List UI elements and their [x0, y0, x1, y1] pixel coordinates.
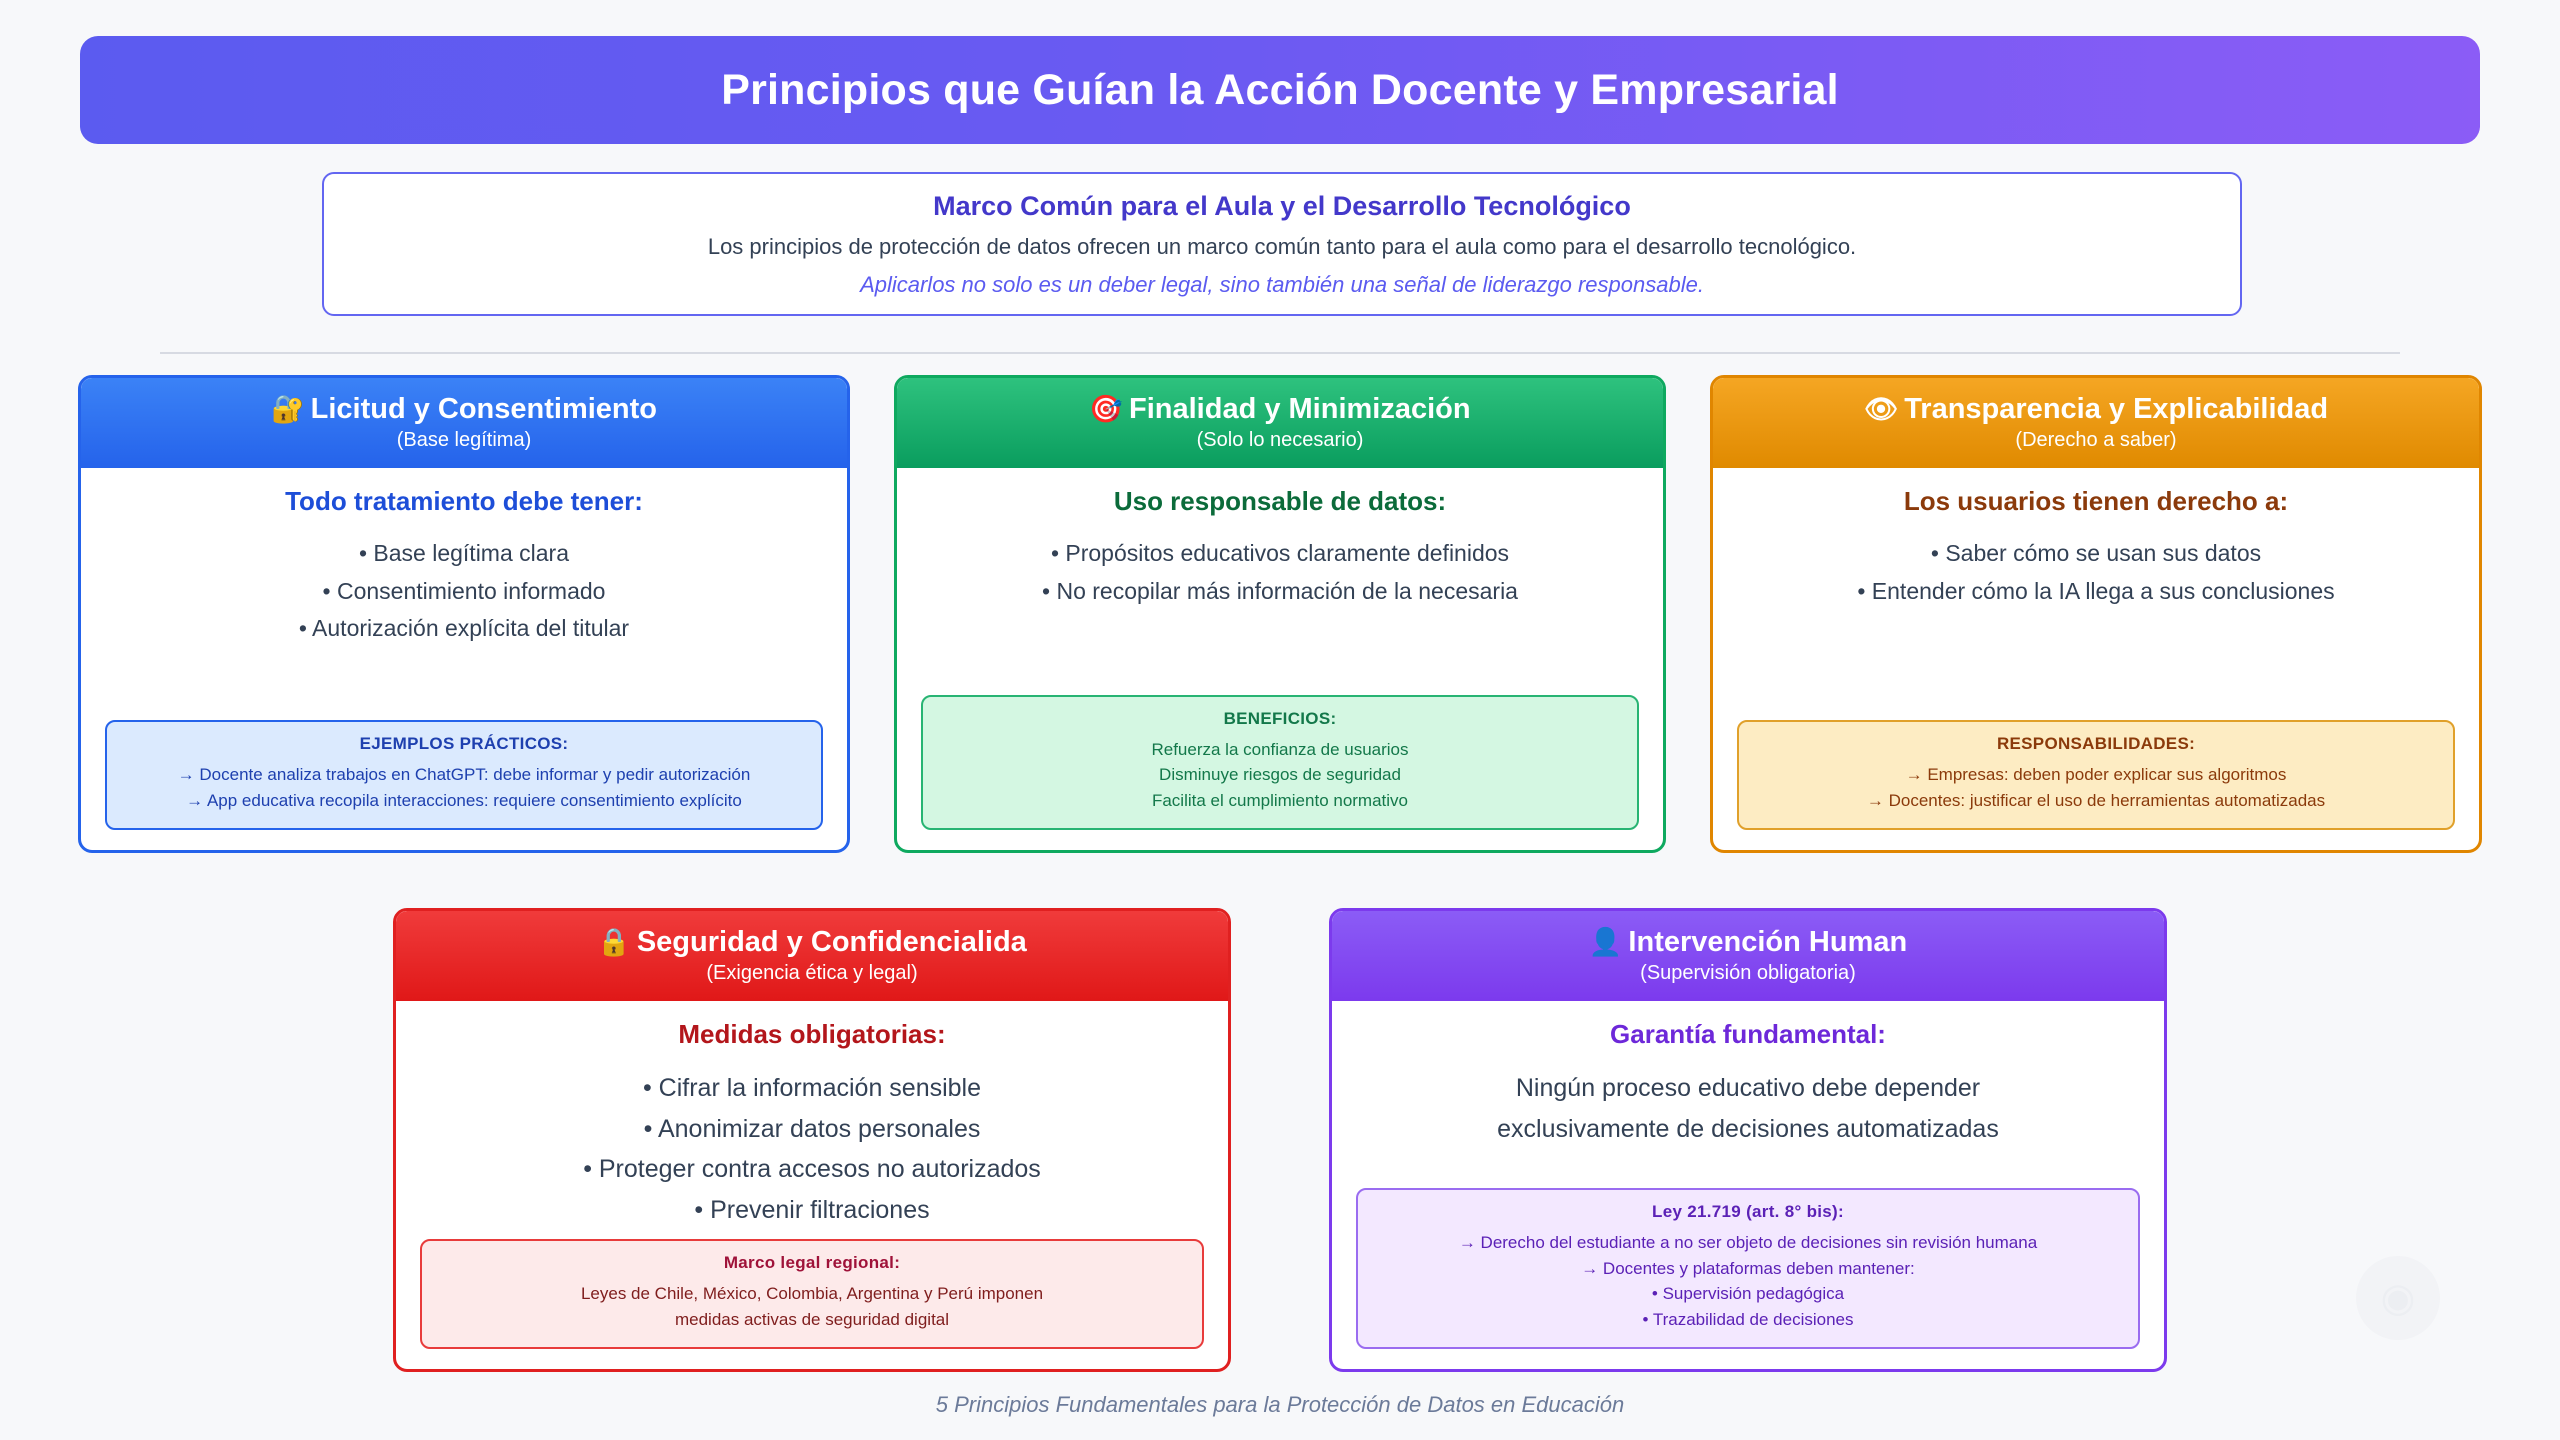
list-item: • No recopilar más información de la nec…	[921, 573, 1639, 610]
card-subtitle: (Base legítima)	[91, 429, 837, 452]
card-subtitle: (Solo lo necesario)	[907, 429, 1653, 452]
card-lead: Todo tratamiento debe tener:	[285, 486, 643, 517]
page-title: Principios que Guían la Acción Docente y…	[721, 66, 1839, 115]
info-box-title: RESPONSABILIDADES:	[1755, 734, 2437, 754]
target-icon: 🎯	[1089, 394, 1123, 424]
card-body-seguridad: Medidas obligatorias: • Cifrar la inform…	[396, 1001, 1228, 1369]
card-lead: Los usuarios tienen derecho a:	[1904, 486, 2288, 517]
lock-icon: 🔒	[597, 927, 631, 957]
card-info-box: EJEMPLOS PRÁCTICOS: → Docente analiza tr…	[105, 720, 823, 830]
infographic-page: Principios que Guían la Acción Docente y…	[0, 0, 2560, 1440]
locked-with-key-icon: 🔐	[271, 394, 305, 424]
main-banner: Principios que Guían la Acción Docente y…	[80, 36, 2480, 144]
info-box-title: BENEFICIOS:	[939, 709, 1621, 729]
card-title-row: 🔒Seguridad y Confidencialida	[406, 925, 1218, 960]
principle-card-transparencia: 👁Transparencia y Explicabilidad (Derecho…	[1710, 375, 2482, 853]
card-lead: Uso responsable de datos:	[1114, 486, 1446, 517]
list-item: • Cifrar la información sensible	[420, 1068, 1204, 1109]
principle-card-intervencion: 👤Intervención Human (Supervisión obligat…	[1329, 908, 2167, 1372]
principle-card-licitud: 🔐Licitud y Consentimiento (Base legítima…	[78, 375, 850, 853]
card-title: Seguridad y Confidencialida	[637, 926, 1027, 958]
info-box-line: → Docentes: justificar el uso de herrami…	[1755, 788, 2437, 814]
info-box-line: Leyes de Chile, México, Colombia, Argent…	[438, 1281, 1186, 1307]
info-box-line: → Empresas: deben poder explicar sus alg…	[1755, 762, 2437, 788]
card-title: Intervención Human	[1628, 926, 1907, 958]
footer-caption: 5 Principios Fundamentales para la Prote…	[0, 1392, 2560, 1418]
card-header-finalidad: 🎯Finalidad y Minimización (Solo lo neces…	[897, 378, 1663, 468]
cards-row-top: 🔐Licitud y Consentimiento (Base legítima…	[78, 375, 2482, 853]
info-box-title: EJEMPLOS PRÁCTICOS:	[123, 734, 805, 754]
card-subtitle: (Derecho a saber)	[1723, 429, 2469, 452]
card-lead: Garantía fundamental:	[1610, 1019, 1886, 1050]
info-box-line: • Supervisión pedagógica	[1374, 1281, 2122, 1307]
intro-emphasis: Aplicarlos no solo es un deber legal, si…	[860, 272, 1704, 298]
list-item: • Proteger contra accesos no autorizados	[420, 1149, 1204, 1190]
list-item: exclusivamente de decisiones automatizad…	[1356, 1109, 2140, 1150]
card-bullets: • Propósitos educativos claramente defin…	[921, 535, 1639, 610]
principle-card-seguridad: 🔒Seguridad y Confidencialida (Exigencia …	[393, 908, 1231, 1372]
list-item: • Saber cómo se usan sus datos	[1737, 535, 2455, 572]
info-box-line: → Derecho del estudiante a no ser objeto…	[1374, 1230, 2122, 1256]
person-icon: 👤	[1589, 927, 1623, 957]
watermark-icon: ◉	[2356, 1256, 2440, 1340]
list-item: • Anonimizar datos personales	[420, 1109, 1204, 1150]
section-divider	[160, 352, 2400, 354]
card-bullets: • Cifrar la información sensible • Anoni…	[420, 1068, 1204, 1230]
info-box-line: Facilita el cumplimiento normativo	[939, 788, 1621, 814]
card-body-licitud: Todo tratamiento debe tener: • Base legí…	[81, 468, 847, 850]
intro-description: Los principios de protección de datos of…	[708, 234, 1856, 260]
list-item: • Entender cómo la IA llega a sus conclu…	[1737, 573, 2455, 610]
card-info-box: Marco legal regional: Leyes de Chile, Mé…	[420, 1239, 1204, 1349]
card-header-licitud: 🔐Licitud y Consentimiento (Base legítima…	[81, 378, 847, 468]
info-box-line: Refuerza la confianza de usuarios	[939, 737, 1621, 763]
eye-icon: 👁	[1864, 394, 1898, 424]
info-box-title: Marco legal regional:	[438, 1253, 1186, 1273]
card-subtitle: (Supervisión obligatoria)	[1342, 962, 2154, 985]
info-box-line: • Trazabilidad de decisiones	[1374, 1307, 2122, 1333]
list-item: • Autorización explícita del titular	[105, 610, 823, 647]
card-body-intervencion: Garantía fundamental: Ningún proceso edu…	[1332, 1001, 2164, 1369]
card-header-intervencion: 👤Intervención Human (Supervisión obligat…	[1332, 911, 2164, 1001]
info-box-line: medidas activas de seguridad digital	[438, 1307, 1186, 1333]
info-box-line: Disminuye riesgos de seguridad	[939, 762, 1621, 788]
card-info-box: BENEFICIOS: Refuerza la confianza de usu…	[921, 695, 1639, 830]
info-box-line: → Docentes y plataformas deben mantener:	[1374, 1256, 2122, 1282]
card-body-transparencia: Los usuarios tienen derecho a: • Saber c…	[1713, 468, 2479, 850]
list-item: • Base legítima clara	[105, 535, 823, 572]
card-bullets: • Saber cómo se usan sus datos • Entende…	[1737, 535, 2455, 610]
list-item: Ningún proceso educativo debe depender	[1356, 1068, 2140, 1109]
card-title: Transparencia y Explicabilidad	[1904, 393, 2328, 425]
card-bullets: Ningún proceso educativo debe depender e…	[1356, 1068, 2140, 1149]
card-title-row: 👁Transparencia y Explicabilidad	[1723, 392, 2469, 427]
card-title: Licitud y Consentimiento	[311, 393, 657, 425]
card-header-seguridad: 🔒Seguridad y Confidencialida (Exigencia …	[396, 911, 1228, 1001]
principle-card-finalidad: 🎯Finalidad y Minimización (Solo lo neces…	[894, 375, 1666, 853]
card-info-box: RESPONSABILIDADES: → Empresas: deben pod…	[1737, 720, 2455, 830]
intro-box: Marco Común para el Aula y el Desarrollo…	[322, 172, 2242, 316]
card-header-transparencia: 👁Transparencia y Explicabilidad (Derecho…	[1713, 378, 2479, 468]
cards-row-bottom: 🔒Seguridad y Confidencialida (Exigencia …	[392, 908, 2168, 1372]
card-lead: Medidas obligatorias:	[678, 1019, 945, 1050]
card-title-row: 🎯Finalidad y Minimización	[907, 392, 1653, 427]
card-title-row: 👤Intervención Human	[1342, 925, 2154, 960]
list-item: • Consentimiento informado	[105, 573, 823, 610]
intro-title: Marco Común para el Aula y el Desarrollo…	[933, 191, 1631, 222]
card-subtitle: (Exigencia ética y legal)	[406, 962, 1218, 985]
card-title: Finalidad y Minimización	[1129, 393, 1471, 425]
info-box-line: → Docente analiza trabajos en ChatGPT: d…	[123, 762, 805, 788]
info-box-line: → App educativa recopila interacciones: …	[123, 788, 805, 814]
card-bullets: • Base legítima clara • Consentimiento i…	[105, 535, 823, 647]
list-item: • Prevenir filtraciones	[420, 1190, 1204, 1231]
card-body-finalidad: Uso responsable de datos: • Propósitos e…	[897, 468, 1663, 850]
info-box-title: Ley 21.719 (art. 8° bis):	[1374, 1202, 2122, 1222]
card-info-box: Ley 21.719 (art. 8° bis): → Derecho del …	[1356, 1188, 2140, 1349]
card-title-row: 🔐Licitud y Consentimiento	[91, 392, 837, 427]
list-item: • Propósitos educativos claramente defin…	[921, 535, 1639, 572]
